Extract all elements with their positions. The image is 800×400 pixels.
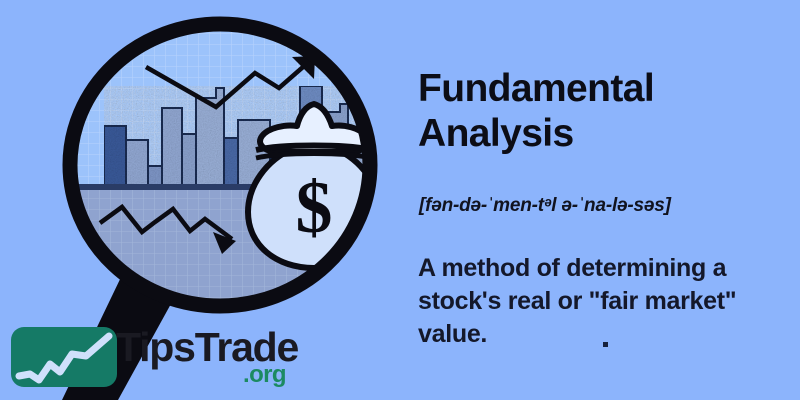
definition-text: A method of determining a stock's real o…: [418, 252, 786, 351]
pronunciation-text: [fən-də-ˈmen-tᵊl ə-ˈna-lə-səs]: [419, 194, 779, 218]
site-logo[interactable]: TipsTrade .org: [8, 318, 348, 398]
dollar-symbol: $: [296, 167, 333, 249]
background-speck: [603, 342, 608, 347]
definition-text-column: Fundamental Analysis [fən-də-ˈmen-tᵊl ə-…: [418, 0, 790, 400]
term-title: Fundamental Analysis: [418, 66, 778, 156]
logo-chart-mark: [10, 326, 118, 388]
logo-tld-text: .org: [243, 362, 286, 388]
definition-poster: $ Fundamental Analysis [fən-də-ˈmen-tᵊl …: [0, 0, 800, 400]
logo-wordmark: TipsTrade .org: [116, 324, 356, 396]
